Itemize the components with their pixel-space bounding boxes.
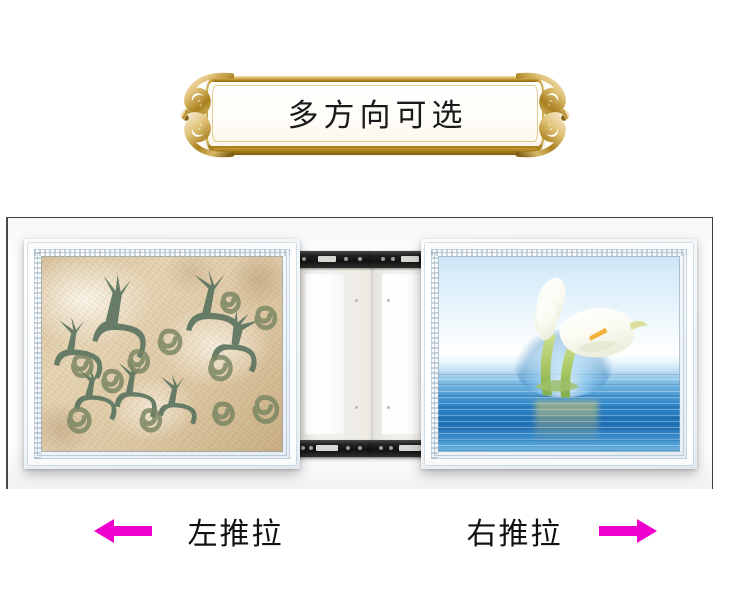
screw-icon <box>355 406 358 409</box>
deer-figures <box>41 256 283 452</box>
caption-left-label: 左推拉 <box>188 509 284 553</box>
box-cavity <box>381 273 423 435</box>
caption-left-slide: 左推拉 <box>0 495 375 567</box>
caption-right-label: 右推拉 <box>467 509 563 553</box>
decorative-gold-banner: 多方向可选 <box>188 76 562 154</box>
ornate-picture-frame <box>421 239 697 469</box>
caption-right-slide: 右推拉 <box>375 495 750 567</box>
title-banner-section: 多方向可选 <box>0 62 750 172</box>
product-photo <box>6 217 713 489</box>
screw-icon <box>387 299 390 302</box>
artwork-cave-art-deer <box>41 256 283 452</box>
screw-icon <box>355 299 358 302</box>
banner-rail-bottom <box>212 148 538 155</box>
arrow-left-icon <box>92 516 154 546</box>
panel-left-slide <box>8 218 361 489</box>
arrow-right-icon <box>597 516 659 546</box>
calla-lily-flowers <box>438 256 680 452</box>
caption-row: 左推拉 右推拉 <box>0 495 750 575</box>
ornate-picture-frame <box>24 239 300 469</box>
screw-icon <box>387 406 390 409</box>
artwork-calla-lily-water <box>438 256 680 452</box>
page-title: 多方向可选 <box>188 76 562 148</box>
box-cavity <box>304 273 346 435</box>
panel-right-slide <box>361 218 713 489</box>
